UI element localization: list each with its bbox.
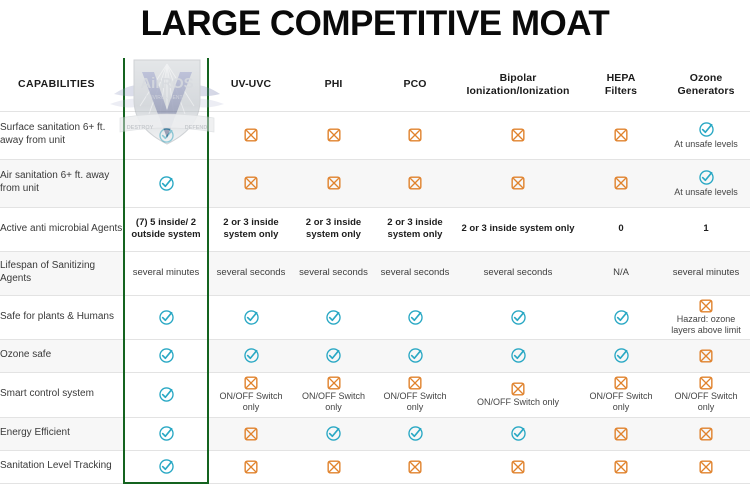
table-row: Smart control systemON/OFF Switch onlyON… bbox=[0, 372, 750, 417]
cell-ozone bbox=[662, 417, 750, 450]
cross-icon bbox=[327, 376, 341, 390]
cell-pco bbox=[374, 111, 456, 159]
cell-uv bbox=[208, 339, 293, 372]
cell-hepa bbox=[580, 450, 662, 483]
ozone-header-line1: Ozone bbox=[662, 72, 750, 85]
cross-icon bbox=[614, 460, 628, 474]
table-row: Air sanitation 6+ ft. away from unitAt u… bbox=[0, 159, 750, 207]
bipolar-header-line2: Ionization/Ionization bbox=[456, 85, 580, 98]
cell-pco bbox=[374, 450, 456, 483]
cross-icon bbox=[327, 128, 341, 142]
check-icon bbox=[158, 175, 175, 192]
cell-value: 2 or 3 inside system only bbox=[457, 223, 580, 235]
hepa-header-line2: Filters bbox=[580, 85, 662, 98]
capability-label: Surface sanitation 6+ ft. away from unit bbox=[0, 111, 124, 159]
cell-phi bbox=[293, 417, 374, 450]
cell-uv: several seconds bbox=[208, 251, 293, 295]
cross-icon bbox=[511, 176, 525, 190]
cell-hepa bbox=[580, 295, 662, 339]
cross-icon bbox=[699, 427, 713, 441]
cross-icon bbox=[614, 376, 628, 390]
cell-value: several minutes bbox=[128, 267, 205, 279]
check-icon bbox=[613, 309, 630, 326]
cell-pco: ON/OFF Switch only bbox=[374, 372, 456, 417]
cross-icon bbox=[408, 176, 422, 190]
cell-bipolar bbox=[456, 159, 580, 207]
cross-icon bbox=[511, 128, 525, 142]
column-header-bipolar-ionization: Bipolar Ionization/Ionization bbox=[456, 59, 580, 111]
cell-bipolar: ON/OFF Switch only bbox=[456, 372, 580, 417]
cell-pco: 2 or 3 inside system only bbox=[374, 207, 456, 251]
cell-phi bbox=[293, 295, 374, 339]
cell-pco bbox=[374, 339, 456, 372]
cell-value: several seconds bbox=[376, 267, 455, 279]
column-header-uv-uvc: UV-UVC bbox=[208, 59, 293, 111]
table-row: Active anti microbial Agents(7) 5 inside… bbox=[0, 207, 750, 251]
check-icon bbox=[158, 425, 175, 442]
cell-note: ON/OFF Switch only bbox=[473, 397, 563, 408]
cell-product: several minutes bbox=[124, 251, 208, 295]
check-icon bbox=[325, 347, 342, 364]
cell-pco bbox=[374, 417, 456, 450]
capability-label: Energy Efficient bbox=[0, 417, 124, 450]
cross-icon bbox=[699, 376, 713, 390]
cell-product bbox=[124, 295, 208, 339]
cell-hepa bbox=[580, 417, 662, 450]
check-icon bbox=[325, 425, 342, 442]
table-row: Energy Efficient bbox=[0, 417, 750, 450]
column-header-phi: PHI bbox=[293, 59, 374, 111]
table-row: Lifespan of Sanitizing Agentsseveral min… bbox=[0, 251, 750, 295]
check-icon bbox=[698, 121, 715, 138]
capability-label: Ozone safe bbox=[0, 339, 124, 372]
capability-label: Active anti microbial Agents bbox=[0, 207, 124, 251]
cell-ozone bbox=[662, 450, 750, 483]
check-icon bbox=[243, 309, 260, 326]
check-icon bbox=[158, 127, 175, 144]
cell-product bbox=[124, 111, 208, 159]
column-header-product-highlight bbox=[124, 59, 208, 111]
column-header-hepa-filters: HEPA Filters bbox=[580, 59, 662, 111]
cell-ozone: ON/OFF Switch only bbox=[662, 372, 750, 417]
table-row: Ozone safe bbox=[0, 339, 750, 372]
cell-hepa bbox=[580, 159, 662, 207]
check-icon bbox=[510, 309, 527, 326]
cell-hepa: ON/OFF Switch only bbox=[580, 372, 662, 417]
cell-value: 2 or 3 inside system only bbox=[293, 217, 374, 241]
cross-icon bbox=[244, 460, 258, 474]
cell-value: N/A bbox=[608, 267, 634, 279]
column-header-pco: PCO bbox=[374, 59, 456, 111]
cell-product bbox=[124, 450, 208, 483]
cell-note: ON/OFF Switch only bbox=[209, 391, 293, 413]
cell-pco bbox=[374, 295, 456, 339]
cell-phi: ON/OFF Switch only bbox=[293, 372, 374, 417]
ozone-header-line2: Generators bbox=[662, 85, 750, 98]
cell-phi bbox=[293, 339, 374, 372]
cross-icon bbox=[614, 427, 628, 441]
cell-pco bbox=[374, 159, 456, 207]
cell-bipolar: 2 or 3 inside system only bbox=[456, 207, 580, 251]
cell-value: 2 or 3 inside system only bbox=[209, 217, 293, 241]
cell-value: several minutes bbox=[668, 267, 745, 279]
cell-value: several seconds bbox=[294, 267, 373, 279]
cross-icon bbox=[244, 427, 258, 441]
table-row: Safe for plants & HumansHazard: ozone la… bbox=[0, 295, 750, 339]
cell-value: 2 or 3 inside system only bbox=[374, 217, 456, 241]
cell-value: 0 bbox=[613, 223, 628, 235]
cell-hepa bbox=[580, 339, 662, 372]
capability-label: Lifespan of Sanitizing Agents bbox=[0, 251, 124, 295]
cell-uv bbox=[208, 417, 293, 450]
cross-icon bbox=[699, 460, 713, 474]
cross-icon bbox=[327, 460, 341, 474]
cell-ozone: 1 bbox=[662, 207, 750, 251]
check-icon bbox=[325, 309, 342, 326]
capability-label: Smart control system bbox=[0, 372, 124, 417]
cross-icon bbox=[244, 176, 258, 190]
cell-bipolar bbox=[456, 295, 580, 339]
cell-product: (7) 5 inside/ 2 outside system bbox=[124, 207, 208, 251]
cross-icon bbox=[408, 460, 422, 474]
cell-note: At unsafe levels bbox=[670, 187, 742, 198]
bipolar-header-line1: Bipolar bbox=[456, 72, 580, 85]
cross-icon bbox=[699, 299, 713, 313]
comparison-table-container: CAPABILITIES UV-UVC PHI PCO Bipolar Ioni… bbox=[0, 58, 750, 476]
table-row: Surface sanitation 6+ ft. away from unit… bbox=[0, 111, 750, 159]
cell-note: ON/OFF Switch only bbox=[662, 391, 750, 413]
cell-phi: several seconds bbox=[293, 251, 374, 295]
cell-ozone: At unsafe levels bbox=[662, 111, 750, 159]
cell-product bbox=[124, 339, 208, 372]
check-icon bbox=[158, 309, 175, 326]
cell-value: 1 bbox=[698, 223, 713, 235]
cross-icon bbox=[614, 176, 628, 190]
cell-product bbox=[124, 417, 208, 450]
check-icon bbox=[407, 309, 424, 326]
cell-ozone: several minutes bbox=[662, 251, 750, 295]
page-title: LARGE COMPETITIVE MOAT bbox=[0, 0, 750, 43]
cell-phi bbox=[293, 159, 374, 207]
cell-note: ON/OFF Switch only bbox=[293, 391, 374, 413]
check-icon bbox=[407, 425, 424, 442]
competitive-comparison-table: CAPABILITIES UV-UVC PHI PCO Bipolar Ioni… bbox=[0, 58, 750, 484]
cell-value: several seconds bbox=[479, 267, 558, 279]
cell-note: ON/OFF Switch only bbox=[580, 391, 662, 413]
cell-uv bbox=[208, 295, 293, 339]
cell-uv bbox=[208, 159, 293, 207]
cell-phi bbox=[293, 450, 374, 483]
capability-label: Safe for plants & Humans bbox=[0, 295, 124, 339]
cell-bipolar bbox=[456, 111, 580, 159]
check-icon bbox=[243, 347, 260, 364]
table-header-row: CAPABILITIES UV-UVC PHI PCO Bipolar Ioni… bbox=[0, 59, 750, 111]
cell-ozone bbox=[662, 339, 750, 372]
check-icon bbox=[158, 347, 175, 364]
table-row: Sanitation Level Tracking bbox=[0, 450, 750, 483]
cross-icon bbox=[244, 128, 258, 142]
capability-label: Sanitation Level Tracking bbox=[0, 450, 124, 483]
cell-pco: several seconds bbox=[374, 251, 456, 295]
cross-icon bbox=[327, 176, 341, 190]
cross-icon bbox=[408, 376, 422, 390]
cell-value: (7) 5 inside/ 2 outside system bbox=[125, 217, 207, 241]
check-icon bbox=[510, 347, 527, 364]
cell-product bbox=[124, 372, 208, 417]
cell-uv bbox=[208, 111, 293, 159]
column-header-capabilities: CAPABILITIES bbox=[0, 59, 124, 111]
cell-uv: 2 or 3 inside system only bbox=[208, 207, 293, 251]
cell-bipolar bbox=[456, 450, 580, 483]
check-icon bbox=[407, 347, 424, 364]
cell-bipolar bbox=[456, 339, 580, 372]
cross-icon bbox=[699, 349, 713, 363]
column-header-ozone-generators: Ozone Generators bbox=[662, 59, 750, 111]
cross-icon bbox=[244, 376, 258, 390]
cell-product bbox=[124, 159, 208, 207]
cell-ozone: Hazard: ozone layers above limit bbox=[662, 295, 750, 339]
cell-bipolar: several seconds bbox=[456, 251, 580, 295]
cross-icon bbox=[511, 460, 525, 474]
cross-icon bbox=[614, 128, 628, 142]
cell-hepa: N/A bbox=[580, 251, 662, 295]
cell-uv bbox=[208, 450, 293, 483]
check-icon bbox=[613, 347, 630, 364]
cell-hepa bbox=[580, 111, 662, 159]
cell-bipolar bbox=[456, 417, 580, 450]
check-icon bbox=[158, 386, 175, 403]
check-icon bbox=[158, 458, 175, 475]
check-icon bbox=[698, 169, 715, 186]
capability-label: Air sanitation 6+ ft. away from unit bbox=[0, 159, 124, 207]
cell-uv: ON/OFF Switch only bbox=[208, 372, 293, 417]
cell-value: several seconds bbox=[212, 267, 291, 279]
cell-ozone: At unsafe levels bbox=[662, 159, 750, 207]
check-icon bbox=[510, 425, 527, 442]
hepa-header-line1: HEPA bbox=[580, 72, 662, 85]
cell-note: Hazard: ozone layers above limit bbox=[662, 314, 750, 336]
cell-phi: 2 or 3 inside system only bbox=[293, 207, 374, 251]
cell-phi bbox=[293, 111, 374, 159]
cell-note: ON/OFF Switch only bbox=[374, 391, 456, 413]
cross-icon bbox=[511, 382, 525, 396]
cross-icon bbox=[408, 128, 422, 142]
cell-hepa: 0 bbox=[580, 207, 662, 251]
table-body: Surface sanitation 6+ ft. away from unit… bbox=[0, 111, 750, 483]
cell-note: At unsafe levels bbox=[670, 139, 742, 150]
